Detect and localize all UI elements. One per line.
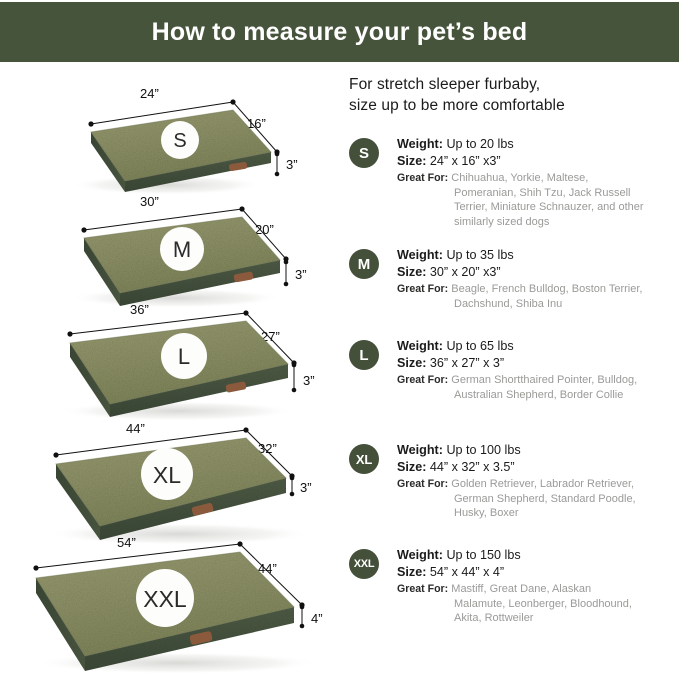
size-label: Size: — [397, 265, 426, 279]
breed-line: similarly sized dogs — [454, 215, 679, 230]
bed-illustration-xxl: 54” 44” 4” XXL — [22, 537, 348, 674]
weight-row-l: Weight: Up to 65 lbs — [397, 338, 679, 355]
dim-label-width-s: 24” — [140, 86, 159, 101]
bed-illustration-m: 30” 20” 3” M — [58, 196, 348, 308]
breed-line: German Shepherd, Standard Poodle, — [454, 492, 679, 507]
size-badge-xxl: XXL — [349, 549, 379, 579]
weight-row-s: Weight: Up to 20 lbs — [397, 136, 679, 153]
dim-label-width-l: 36” — [130, 302, 149, 317]
great-for-label: Great For: — [397, 283, 448, 295]
size-row-m: Size: 30” x 20” x3” — [397, 264, 679, 281]
breed-line: Golden Retriever, Labrador Retriever, — [451, 478, 634, 490]
size-badge-xl: XL — [349, 444, 379, 474]
dim-label-height-xl: 3” — [300, 480, 312, 495]
breed-line: Husky, Boxer — [454, 506, 679, 521]
great-for-label: Great For: — [397, 478, 448, 490]
intro-text: For stretch sleeper furbaby, size up to … — [349, 74, 674, 120]
size-value: 54” x 44” x 4” — [430, 565, 504, 579]
dimension-height-l: 3” — [292, 363, 315, 393]
intro-line-2: size up to be more comfortable — [349, 95, 674, 116]
dim-label-height-xxl: 4” — [311, 611, 323, 626]
size-label: Size: — [397, 356, 426, 370]
size-label: Size: — [397, 565, 426, 579]
size-row-l: Size: 36” x 27” x 3” — [397, 355, 679, 372]
breed-line: Dachshund, Shiba Inu — [454, 297, 679, 312]
bed-illustration-xl: 44” 32” 3” XL — [34, 422, 346, 544]
size-value: 44” x 32” x 3.5” — [430, 460, 515, 474]
header-bar: How to measure your pet’s bed — [0, 2, 679, 62]
size-badge-m: M — [349, 249, 379, 279]
size-marker-label-m: M — [173, 237, 191, 262]
size-row-xxl: Size: 54” x 44” x 4” — [397, 564, 679, 581]
size-badge-l: L — [349, 340, 379, 370]
weight-row-xl: Weight: Up to 100 lbs — [397, 442, 679, 459]
great-for-m: Great For: Beagle, French Bulldog, Bosto… — [397, 282, 679, 311]
size-label: Size: — [397, 460, 426, 474]
weight-value: Up to 65 lbs — [446, 339, 513, 353]
great-for-label: Great For: — [397, 172, 448, 184]
bed-illustration-l: 36” 27” 3” L — [48, 306, 348, 421]
great-for-label: Great For: — [397, 583, 448, 595]
great-for-label: Great For: — [397, 374, 448, 386]
breed-line: Australian Shepherd, Border Collie — [454, 388, 679, 403]
size-value: 36” x 27” x 3” — [430, 356, 504, 370]
dim-label-width-xxl: 54” — [117, 535, 136, 550]
dim-label-width-xl: 44” — [126, 421, 145, 436]
breed-line: German Shortthaired Pointer, Bulldog, — [451, 374, 637, 386]
intro-line-1: For stretch sleeper furbaby, — [349, 74, 674, 95]
size-value: 24” x 16” x3” — [430, 154, 501, 168]
great-for-xl: Great For: Golden Retriever, Labrador Re… — [397, 477, 679, 521]
size-row-s: Size: 24” x 16” x3” — [397, 153, 679, 170]
dim-label-width-m: 30” — [140, 194, 159, 209]
dim-label-height-m: 3” — [295, 267, 307, 282]
infographic-page: How to measure your pet’s bed For stretc… — [0, 0, 679, 674]
breed-line: Chihuahua, Yorkie, Maltese, — [451, 172, 588, 184]
page-title: How to measure your pet’s bed — [152, 20, 528, 45]
dim-label-height-l: 3” — [303, 373, 315, 388]
weight-row-m: Weight: Up to 35 lbs — [397, 247, 679, 264]
weight-label: Weight: — [397, 339, 443, 353]
size-row-xl: Size: 44” x 32” x 3.5” — [397, 459, 679, 476]
dimension-height-xxl: 4” — [300, 605, 323, 629]
great-for-l: Great For: German Shortthaired Pointer, … — [397, 373, 679, 402]
size-marker-label-xxl: XXL — [143, 586, 187, 612]
weight-label: Weight: — [397, 548, 443, 562]
weight-label: Weight: — [397, 248, 443, 262]
size-marker-label-s: S — [173, 130, 186, 152]
bed-illustration-s: 24” 16” 3” S — [62, 86, 342, 196]
size-badge-s: S — [349, 138, 379, 168]
dimension-height-s: 3” — [275, 152, 298, 177]
weight-value: Up to 20 lbs — [446, 137, 513, 151]
weight-row-xxl: Weight: Up to 150 lbs — [397, 547, 679, 564]
breed-line: Terrier, Miniature Schnauzer, and other — [454, 200, 679, 215]
weight-value: Up to 35 lbs — [446, 248, 513, 262]
dim-label-height-s: 3” — [286, 157, 298, 172]
weight-label: Weight: — [397, 137, 443, 151]
weight-value: Up to 150 lbs — [446, 548, 520, 562]
weight-value: Up to 100 lbs — [446, 443, 520, 457]
size-value: 30” x 20” x3” — [430, 265, 501, 279]
weight-label: Weight: — [397, 443, 443, 457]
breed-line: Akita, Rottweiler — [454, 611, 679, 626]
dimension-height-xl: 3” — [290, 476, 312, 497]
size-marker-label-l: L — [178, 344, 190, 369]
size-label: Size: — [397, 154, 426, 168]
great-for-xxl: Great For: Mastiff, Great Dane, Alaskan … — [397, 582, 679, 626]
breed-line: Pomeranian, Shih Tzu, Jack Russell — [454, 186, 679, 201]
breed-line: Mastiff, Great Dane, Alaskan — [451, 583, 591, 595]
breed-line: Malamute, Leonberger, Bloodhound, — [454, 597, 679, 612]
great-for-s: Great For: Chihuahua, Yorkie, Maltese, P… — [397, 171, 679, 229]
size-marker-label-xl: XL — [153, 462, 181, 488]
breed-line: Beagle, French Bulldog, Boston Terrier, — [451, 283, 642, 295]
dimension-height-m: 3” — [284, 260, 307, 287]
